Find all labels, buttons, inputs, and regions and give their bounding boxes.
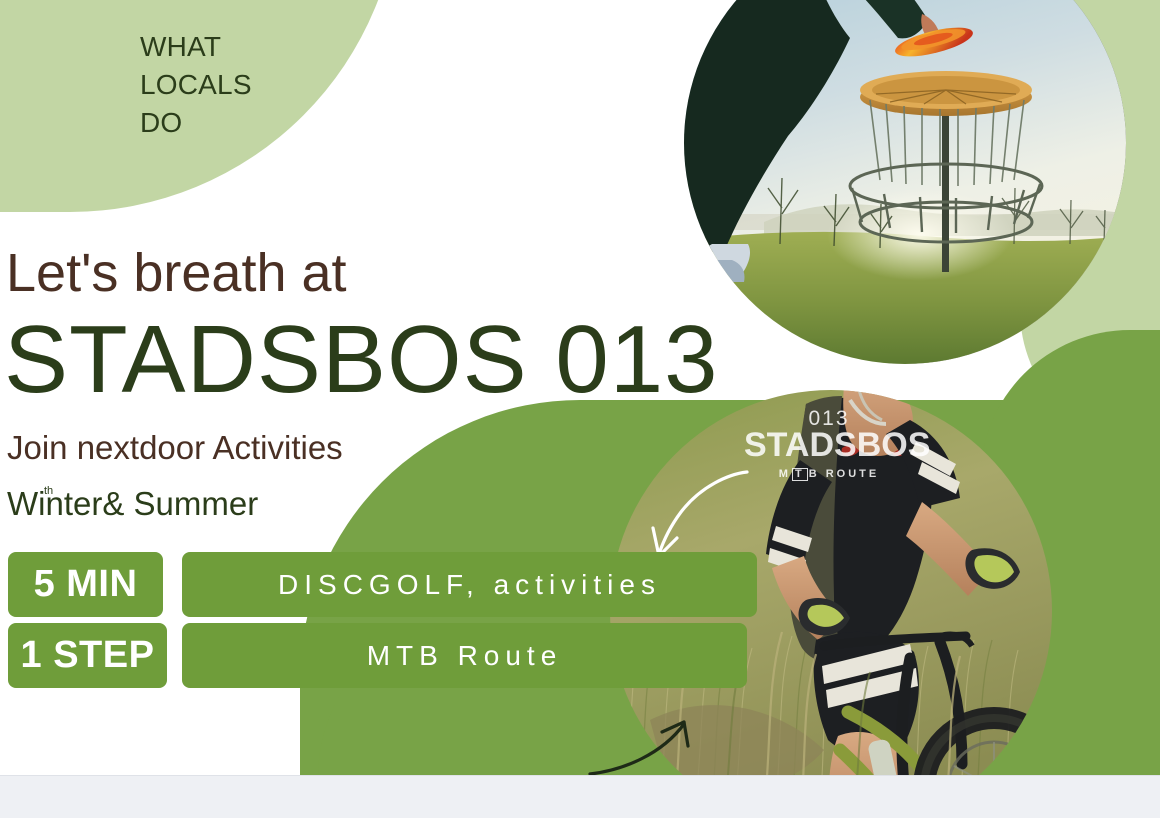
badge-5-min[interactable]: 5 MIN xyxy=(8,552,163,617)
disc-golf-photo xyxy=(684,0,1126,364)
superscript-artifact: th xyxy=(44,486,53,497)
page-title: STADSBOS 013 xyxy=(4,305,719,415)
eyebrow-text: WHAT LOCALS DO xyxy=(140,28,380,142)
kicker-text: Let's breath at xyxy=(6,240,347,306)
page-bottom-strip xyxy=(0,775,1160,818)
button-discgolf-activities[interactable]: DISCGOLF, activities xyxy=(182,552,757,617)
badge-1-step[interactable]: 1 STEP xyxy=(8,623,167,688)
button-mtb-route[interactable]: MTB Route xyxy=(182,623,747,688)
poster-canvas: 013 STADSBOS MTB ROUTE WHAT LOCALS DO Le… xyxy=(0,0,1160,818)
subtitle-one: Join nextdoor Activities xyxy=(7,427,343,469)
